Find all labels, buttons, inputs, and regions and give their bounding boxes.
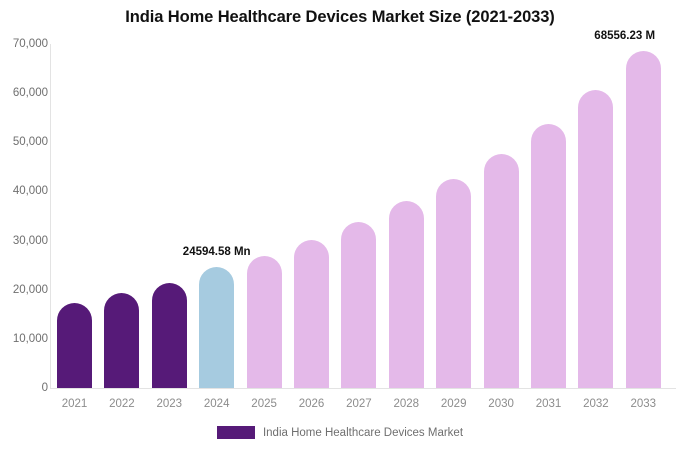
- bar-2031[interactable]: [531, 124, 566, 388]
- bar-2022[interactable]: [104, 293, 139, 388]
- value-label-2033: 68556.23 M: [594, 30, 680, 42]
- chart-title: India Home Healthcare Devices Market Siz…: [0, 8, 680, 27]
- x-axis-line: [50, 388, 676, 389]
- chart-legend: India Home Healthcare Devices Market: [0, 426, 680, 439]
- chart-container: India Home Healthcare Devices Market Siz…: [0, 0, 680, 450]
- y-axis-tick-label: 10,000: [4, 333, 48, 345]
- bar-2023[interactable]: [152, 283, 187, 388]
- value-label-2024: 24594.58 Mn: [177, 246, 257, 258]
- bar-2033[interactable]: [626, 51, 661, 388]
- bar-2029[interactable]: [436, 179, 471, 388]
- bar-2032[interactable]: [578, 90, 613, 388]
- x-axis-tick-label-2033: 2033: [613, 398, 673, 410]
- legend-item-label: India Home Healthcare Devices Market: [263, 427, 463, 439]
- y-axis-tick-label: 60,000: [4, 87, 48, 99]
- legend-swatch-icon: [217, 426, 255, 439]
- y-axis-tick-label: 30,000: [4, 235, 48, 247]
- y-axis-tick-label: 50,000: [4, 136, 48, 148]
- y-axis-tick-label: 20,000: [4, 284, 48, 296]
- bar-2021[interactable]: [57, 303, 92, 388]
- y-axis-tick-label: 0: [4, 382, 48, 394]
- bar-2024[interactable]: [199, 267, 234, 388]
- bar-2025[interactable]: [247, 256, 282, 388]
- plot-area: 010,00020,00030,00040,00050,00060,00070,…: [50, 44, 680, 388]
- y-axis-tick-label: 40,000: [4, 185, 48, 197]
- legend-item[interactable]: India Home Healthcare Devices Market: [217, 426, 463, 439]
- bar-2027[interactable]: [341, 222, 376, 388]
- bar-2028[interactable]: [389, 201, 424, 388]
- bar-2026[interactable]: [294, 240, 329, 388]
- bar-2030[interactable]: [484, 154, 519, 388]
- y-axis-tick-label: 70,000: [4, 38, 48, 50]
